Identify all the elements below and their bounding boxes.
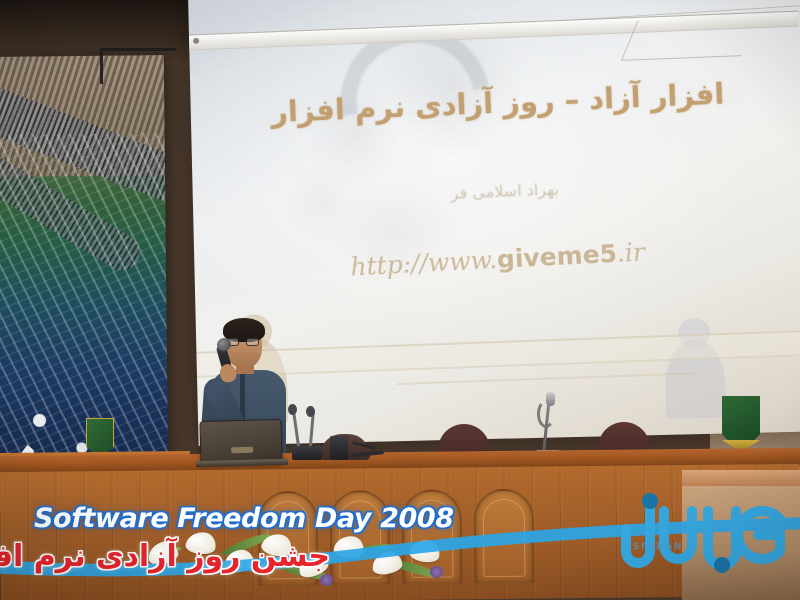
slide-title: افزار آزاد – روز آزادی نرم افزار <box>188 70 800 137</box>
desk-microphone-2-head <box>288 404 297 415</box>
event-title-persian: جشن روز آزادی نرم افزار ۱۳۸۷ <box>0 539 330 574</box>
slide-url-prefix: http://www. <box>350 245 498 282</box>
desk-microphone-head <box>546 392 555 406</box>
glasses-icon <box>226 338 262 346</box>
av-equipment-box-1 <box>292 446 322 460</box>
logo-dot-bottom <box>714 557 730 573</box>
desk-microphone-3-head <box>306 406 315 417</box>
slide-url: http://www.giveme5.ir <box>188 229 800 290</box>
ceiling-rail <box>100 48 176 84</box>
event-title-english: Software Freedom Day 2008 <box>34 503 454 534</box>
lug-isfahan-subtitle: ISFAHAN <box>628 542 683 552</box>
av-equipment-box-2 <box>330 436 348 460</box>
photograph: افزار آزاد – روز آزادی نرم افزار بهراد ا… <box>0 0 800 600</box>
lug-isfahan-logo: ISFAHAN <box>612 489 792 589</box>
decorative-banner <box>0 55 168 487</box>
slide-url-tld: .ir <box>616 237 645 267</box>
slide-url-domain: giveme5 <box>496 239 617 274</box>
podium-panel-4 <box>474 489 535 586</box>
logo-dot-top <box>642 493 658 509</box>
slide-author: بهراد اسلامی فر <box>192 169 800 214</box>
laptop-logo <box>231 447 253 454</box>
laptop <box>199 419 282 465</box>
